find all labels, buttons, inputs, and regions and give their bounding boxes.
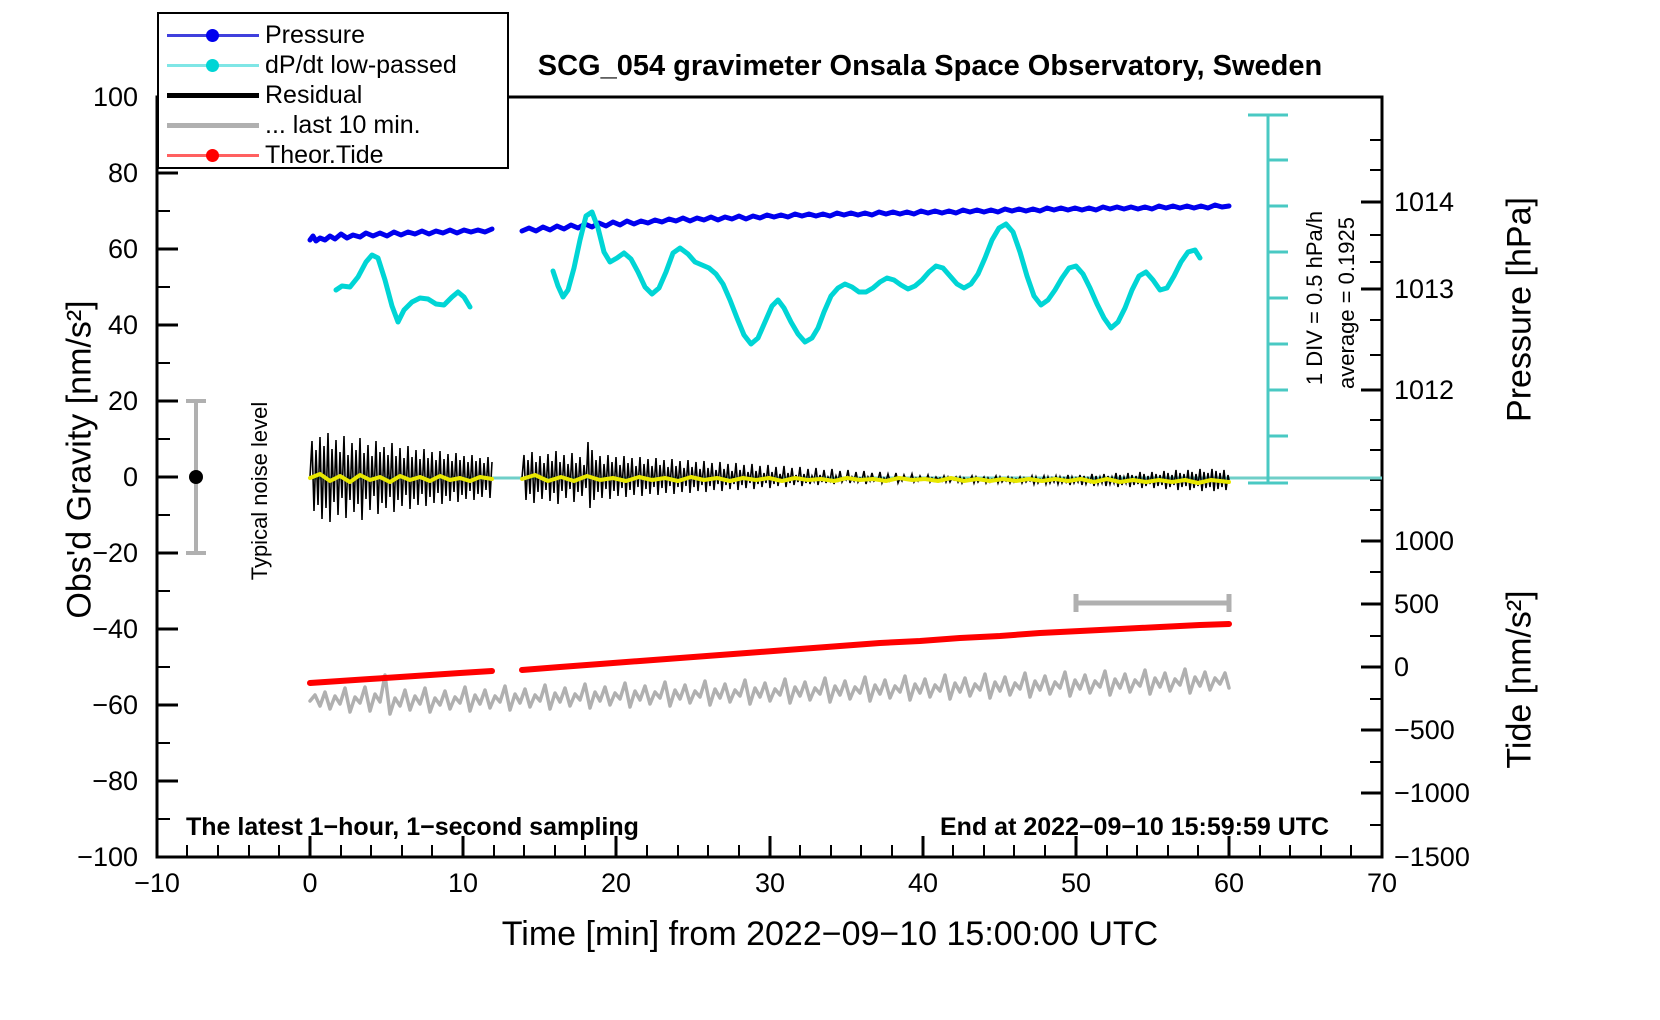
xtick-7: 60 bbox=[1184, 868, 1274, 899]
legend-marker-pressure bbox=[206, 29, 219, 42]
xtick-5: 40 bbox=[878, 868, 968, 899]
x-axis-label: Time [min] from 2022−09−10 15:00:00 UTC bbox=[0, 915, 1660, 954]
xtick-4: 30 bbox=[725, 868, 815, 899]
right-axis-minor-ticks bbox=[1370, 140, 1382, 825]
chart-root: SCG_054 gravimeter Onsala Space Observat… bbox=[0, 0, 1660, 1020]
right-axis-ticks bbox=[1361, 202, 1382, 857]
legend-marker-theor-tide bbox=[206, 149, 219, 162]
legend-label-last10: ... last 10 min. bbox=[265, 111, 421, 140]
legend-swatch-residual bbox=[167, 93, 259, 98]
footer-end-time: End at 2022−09−10 15:59:59 UTC bbox=[940, 813, 1329, 842]
last-10-min-extent-bar bbox=[1076, 594, 1229, 612]
legend-item-theor-tide[interactable]: Theor.Tide bbox=[159, 140, 507, 170]
average-label: average = 0.1925 bbox=[1334, 178, 1360, 428]
xtick-2: 10 bbox=[418, 868, 508, 899]
dpdt-scale-bar bbox=[1248, 115, 1288, 483]
legend-label-residual: Residual bbox=[265, 81, 362, 110]
series-pressure bbox=[310, 205, 1229, 241]
footer-sampling-note: The latest 1−hour, 1−second sampling bbox=[186, 813, 639, 842]
legend-swatch-last10 bbox=[167, 123, 259, 128]
legend-label-dpdt: dP/dt low-passed bbox=[265, 51, 457, 80]
legend-item-pressure[interactable]: Pressure bbox=[159, 20, 507, 50]
ytick-left-9: −80 bbox=[18, 766, 138, 797]
legend: Pressure dP/dt low-passed Residual ... l… bbox=[157, 12, 509, 169]
y-axis-label-left: Obs'd Gravity [nm/s²] bbox=[61, 150, 100, 770]
legend-label-pressure: Pressure bbox=[265, 21, 365, 50]
legend-item-residual[interactable]: Residual bbox=[159, 80, 507, 110]
typical-noise-level-dot bbox=[189, 470, 203, 484]
legend-item-dpdt[interactable]: dP/dt low-passed bbox=[159, 50, 507, 80]
xtick-6: 50 bbox=[1031, 868, 1121, 899]
y-axis-label-pressure: Pressure [hPa] bbox=[1501, 100, 1540, 520]
y-axis-label-tide: Tide [nm/s²] bbox=[1501, 480, 1540, 880]
div-scale-label: 1 DIV = 0.5 hPa/h bbox=[1302, 173, 1328, 423]
series-theor-tide bbox=[310, 624, 1229, 683]
legend-marker-dpdt bbox=[206, 59, 219, 72]
xtick-8: 70 bbox=[1337, 868, 1427, 899]
ytick-left-0: 100 bbox=[18, 82, 138, 113]
xtick-3: 20 bbox=[571, 868, 661, 899]
legend-item-last10[interactable]: ... last 10 min. bbox=[159, 110, 507, 140]
xtick-1: 0 bbox=[265, 868, 355, 899]
legend-label-theor-tide: Theor.Tide bbox=[265, 141, 384, 170]
xtick-0: −10 bbox=[112, 868, 202, 899]
typical-noise-level-label: Typical noise level bbox=[247, 381, 273, 601]
